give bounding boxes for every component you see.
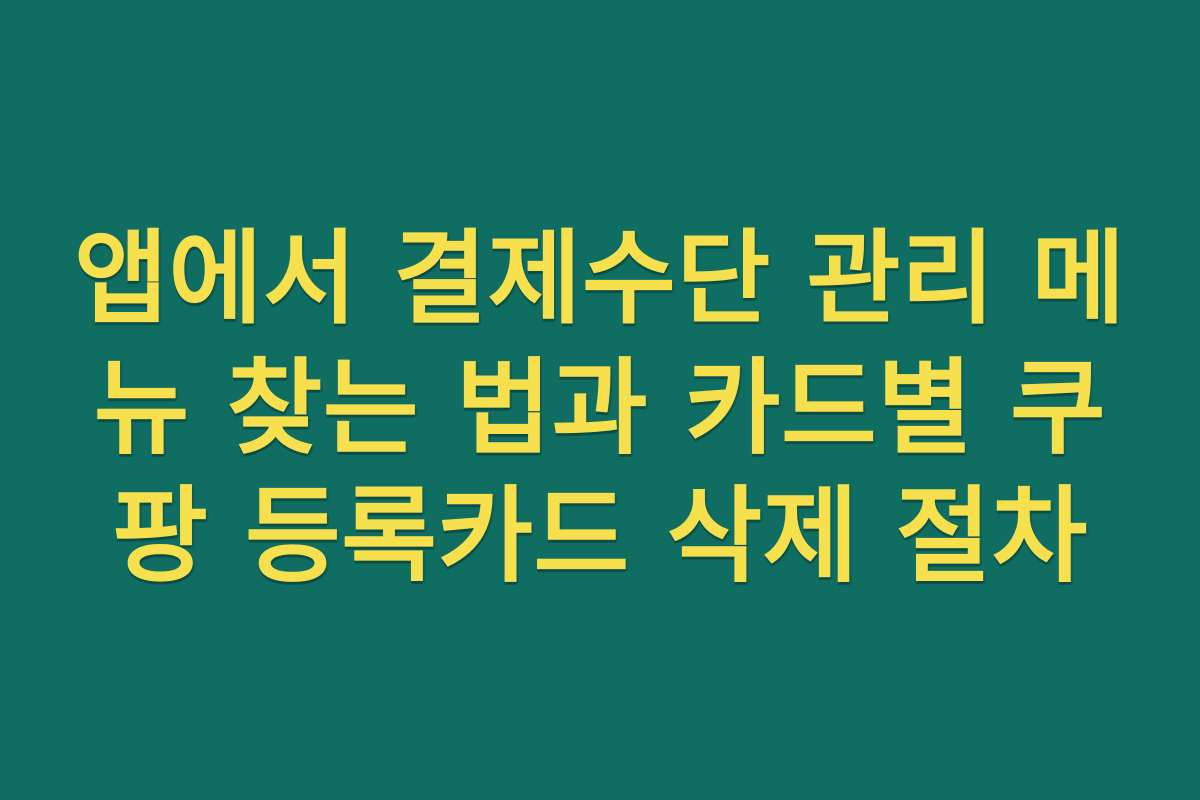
headline-line-1: 앱에서 결제수단 관리 메 [70, 216, 1130, 344]
headline-line-3: 팡 등록카드 삭제 절차 [70, 472, 1130, 600]
headline-block: 앱에서 결제수단 관리 메 뉴 찾는 법과 카드별 쿠 팡 등록카드 삭제 절차 [70, 216, 1130, 600]
headline-line-2: 뉴 찾는 법과 카드별 쿠 [70, 344, 1130, 472]
poster-canvas: 앱에서 결제수단 관리 메 뉴 찾는 법과 카드별 쿠 팡 등록카드 삭제 절차 [0, 0, 1200, 800]
